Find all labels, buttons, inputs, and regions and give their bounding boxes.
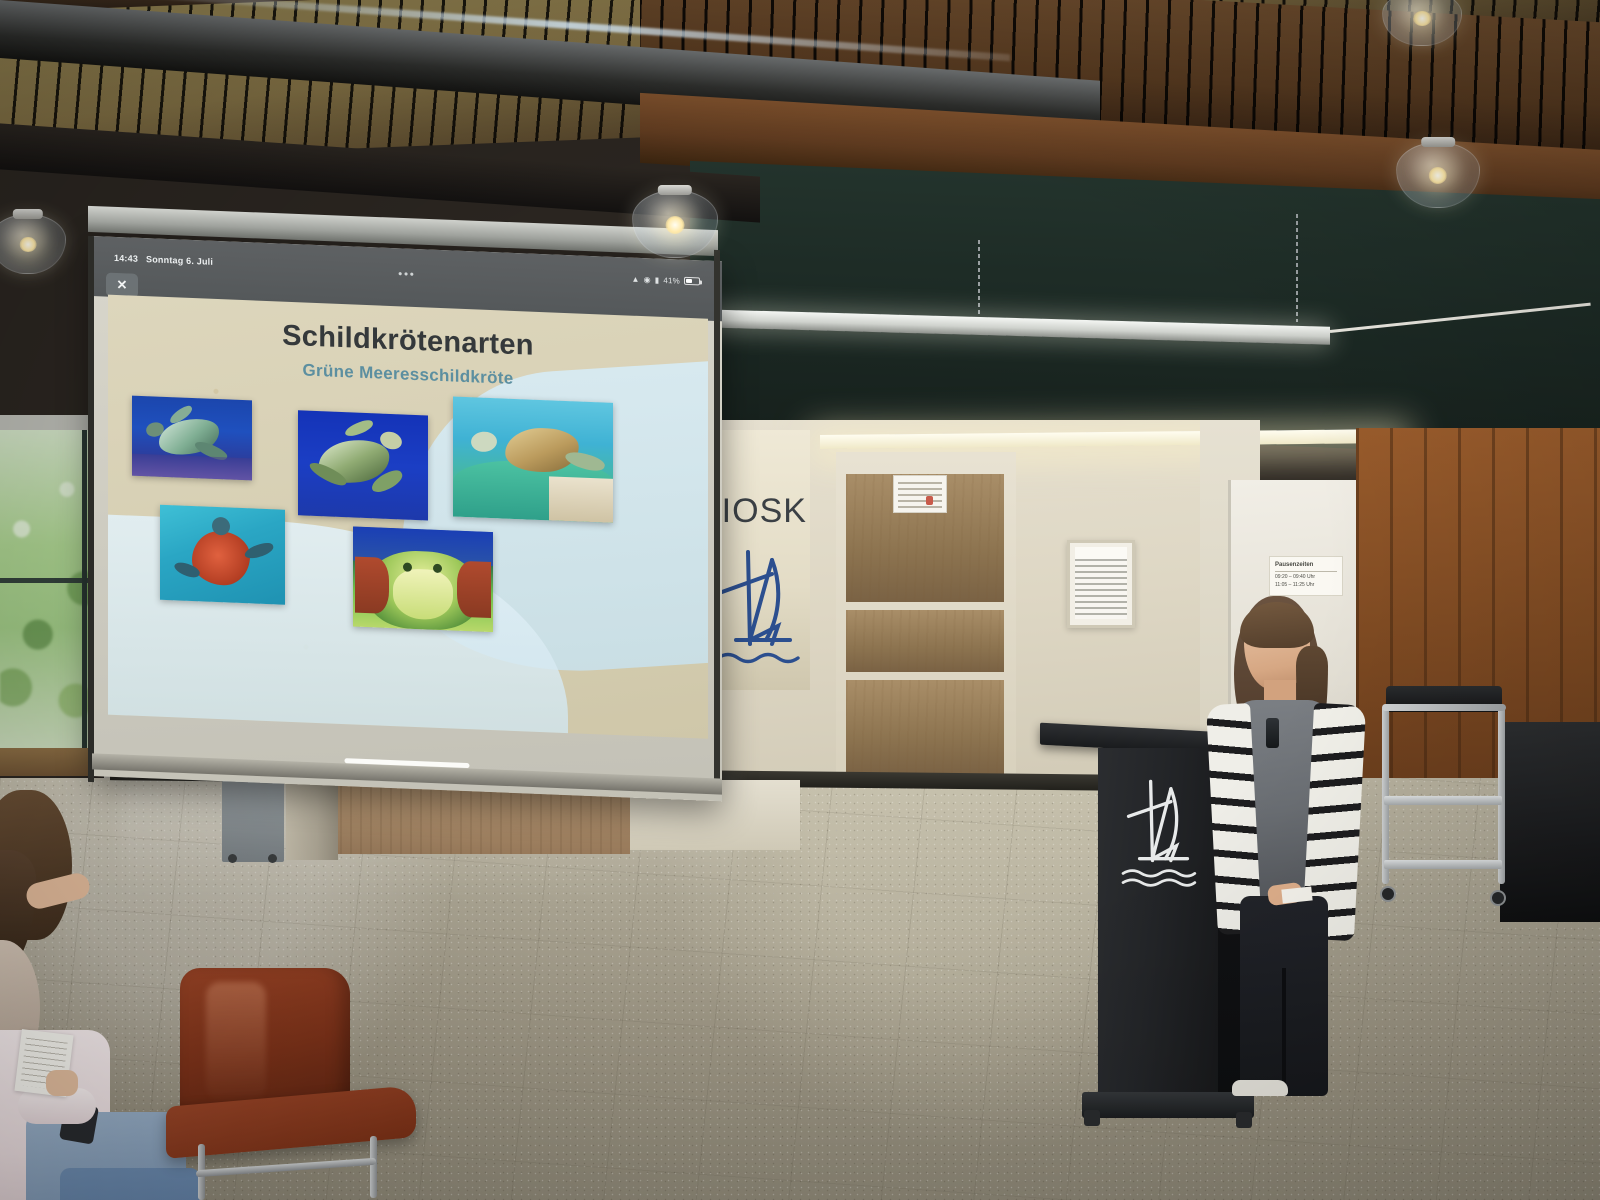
turtle-photo	[132, 396, 252, 481]
poster-text-lines	[898, 482, 942, 508]
lamp-cap	[658, 185, 692, 196]
lamp-bulb	[666, 216, 685, 234]
screen-edge-left	[88, 236, 94, 782]
audience-hand	[46, 1070, 78, 1096]
podium-foot	[1236, 1112, 1252, 1128]
presenter-shoe	[1232, 1080, 1288, 1096]
clip-microphone-icon	[1266, 718, 1279, 748]
shelf-poster	[893, 475, 947, 513]
chair-highlight	[206, 982, 266, 1100]
trolley-wheel	[1380, 886, 1396, 902]
lamp-cap	[13, 209, 43, 219]
status-date: Sonntag 6. Juli	[146, 254, 213, 267]
battery-icon	[684, 277, 700, 286]
turtle-photo	[298, 410, 428, 520]
presentation-slide: Schildkrötenarten Grüne Meeresschildkröt…	[108, 295, 708, 739]
window-mullion	[82, 430, 87, 760]
shelf-niche	[846, 680, 1004, 775]
turtle-photo	[453, 396, 613, 522]
multitask-handle[interactable]: •••	[398, 268, 416, 281]
lock-icon: ▮	[655, 275, 660, 284]
projection-screen: 14:43 Sonntag 6. Juli ▲ ◉ ▮ 41% ••• ✕ Sc…	[92, 236, 722, 801]
trolley-rail	[1382, 706, 1389, 884]
notice-text-lines	[1075, 559, 1127, 619]
pausenzeiten-line-1: 09:20 – 09:40 Uhr	[1275, 574, 1337, 582]
pendant-globe-lamp	[1396, 142, 1480, 208]
light-chain	[1296, 214, 1298, 322]
trolley-wheel	[1490, 890, 1506, 906]
screen-edge-right	[714, 250, 720, 786]
cabinet-wheel	[268, 854, 277, 863]
pa-speaker-box	[1500, 722, 1600, 922]
trolley-shelf	[1384, 860, 1502, 869]
battery-percent-label: 41%	[663, 275, 680, 285]
podium-foot	[1084, 1110, 1100, 1126]
cabinet-wheel	[228, 854, 237, 863]
light-chain	[978, 240, 980, 326]
pendant-globe-lamp	[1382, 0, 1462, 46]
wifi-icon: ▲	[631, 274, 639, 283]
lamp-bulb	[20, 237, 37, 253]
pendant-globe-lamp	[0, 214, 66, 274]
location-icon: ◉	[644, 275, 651, 284]
stainless-steel-trolley	[1378, 700, 1510, 918]
pausenzeiten-title: Pausenzeiten	[1275, 561, 1337, 572]
status-right-group: ▲ ◉ ▮ 41%	[631, 274, 700, 286]
lamp-bulb	[1413, 11, 1431, 26]
grey-cabinet	[222, 776, 284, 862]
framed-notice-board	[1067, 540, 1135, 628]
status-left-group: 14:43 Sonntag 6. Juli	[114, 253, 213, 267]
trolley-shelf	[1384, 796, 1502, 805]
scene-root: KIOSK	[0, 0, 1600, 1200]
presenter	[1196, 588, 1366, 1108]
turtle-photo	[160, 505, 285, 605]
trolley-rail	[1382, 704, 1506, 711]
trolley-rail	[1498, 706, 1505, 884]
status-time: 14:43	[114, 253, 138, 264]
poster-graphic	[926, 496, 933, 505]
sailboat-logo-icon	[1112, 772, 1204, 892]
shelf-niche	[846, 610, 1004, 672]
turtle-photo	[353, 526, 493, 632]
pendant-globe-lamp	[632, 190, 718, 258]
wooden-school-chair[interactable]	[170, 968, 440, 1200]
chair-rail	[196, 1158, 376, 1178]
presenter-leg-gap	[1282, 968, 1286, 1096]
lamp-cap	[1421, 137, 1455, 148]
chair-leg	[370, 1136, 377, 1198]
